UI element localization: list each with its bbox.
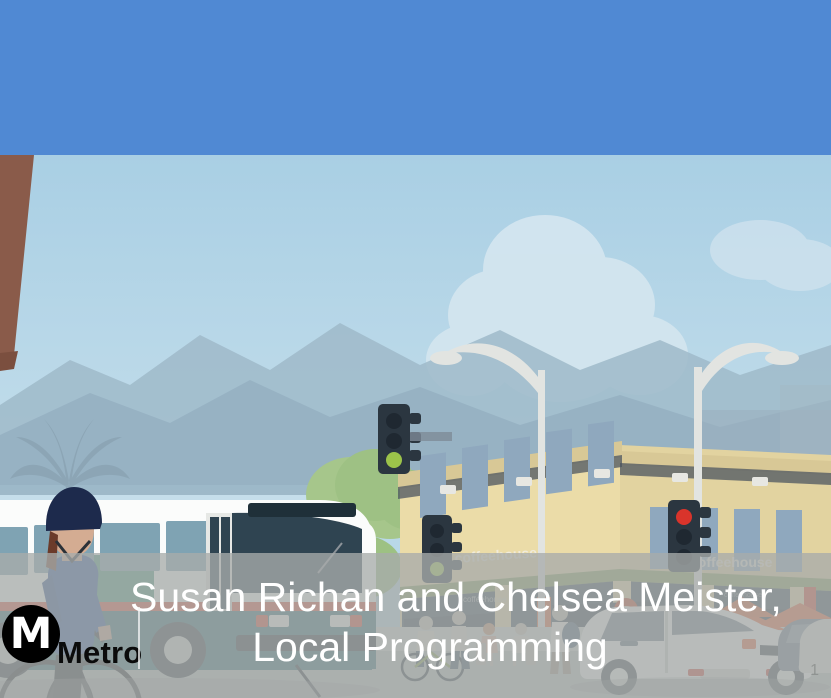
presenter-credits: Susan Richan and Chelsea Meister, Local …: [130, 572, 730, 672]
metro-circle-mark: M: [2, 605, 60, 663]
signal-crossarm: [410, 432, 452, 441]
signal-red-light: [676, 509, 692, 525]
metro-wordmark: Metro: [57, 635, 142, 671]
slide-number: 1: [810, 662, 819, 680]
presenter-department: Local Programming: [130, 622, 730, 672]
presenter-names: Susan Richan and Chelsea Meister,: [130, 574, 782, 620]
metro-m-glyph: M: [2, 605, 60, 663]
signal-green-light: [386, 452, 402, 468]
metro-logo: M Metro: [2, 605, 152, 677]
title-header-band: [0, 0, 831, 155]
presentation-slide: coffeehouse coffeehouse coffeehouse coff…: [0, 0, 831, 698]
bus-destination-sign: [248, 503, 356, 517]
logo-divider: [138, 607, 140, 669]
